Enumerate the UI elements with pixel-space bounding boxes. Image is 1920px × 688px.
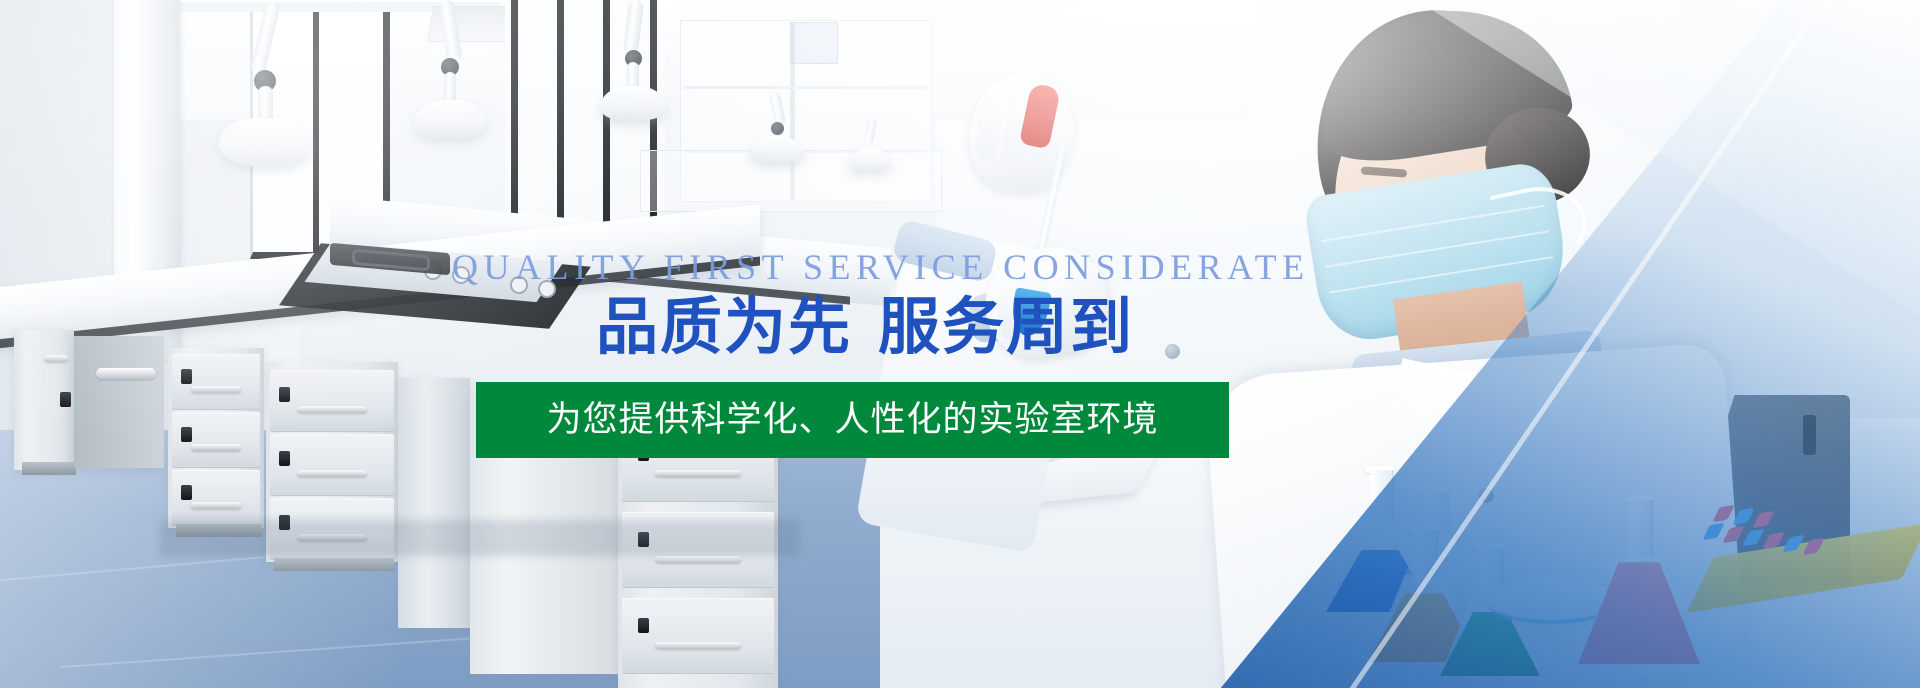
headline: 品质为先服务周到	[596, 290, 1134, 364]
headline-part-1: 品质为先	[596, 290, 852, 363]
headline-part-2: 服务周到	[878, 290, 1134, 363]
subheadline-text: 为您提供科学化、人性化的实验室环境	[546, 398, 1158, 442]
hero-banner: QUALITY FIRST SERVICE CONSIDERATE 品质为先服务…	[0, 0, 1920, 688]
banner-text-overlay: QUALITY FIRST SERVICE CONSIDERATE 品质为先服务…	[0, 0, 1920, 688]
english-tagline: QUALITY FIRST SERVICE CONSIDERATE	[452, 247, 1310, 287]
subheadline-bar: 为您提供科学化、人性化的实验室环境	[476, 382, 1229, 458]
